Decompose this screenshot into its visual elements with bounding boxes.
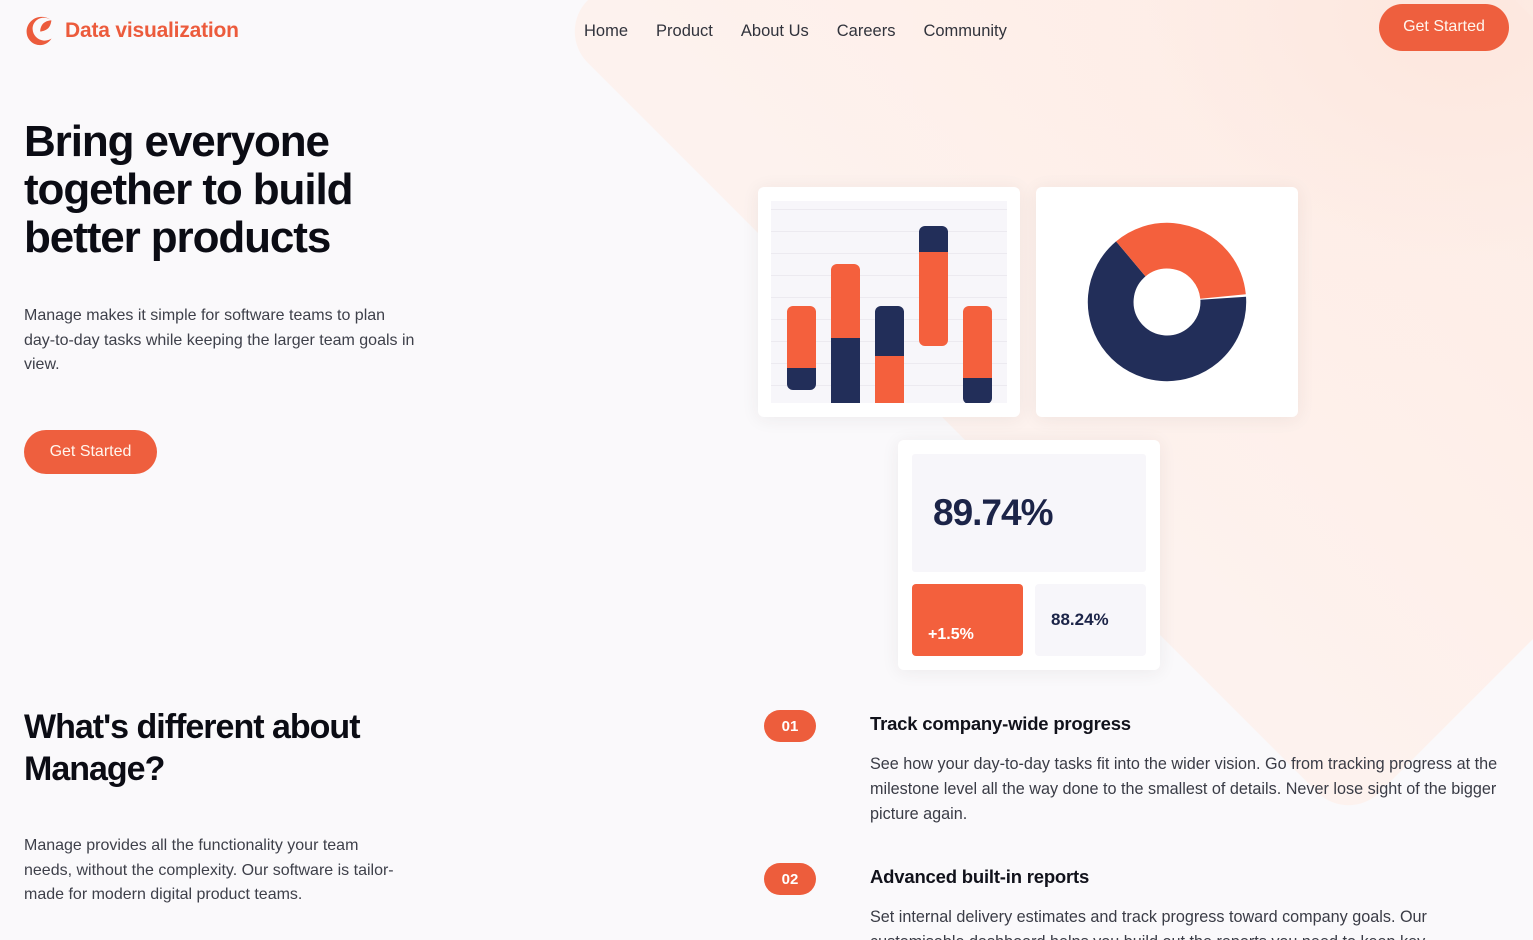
feature-text-02: Set internal delivery estimates and trac… xyxy=(870,905,1509,940)
crescent-swoosh-logo-icon xyxy=(24,16,54,46)
bar-1 xyxy=(787,306,816,390)
features-section: What's different about Manage? Manage pr… xyxy=(0,618,1533,940)
site-header: Data visualization Home Product About Us… xyxy=(0,0,1533,62)
gridline xyxy=(771,253,1007,254)
header-cta-wrapper: Get Started xyxy=(1379,4,1509,51)
bar-chart-plot-area xyxy=(771,201,1007,403)
header-get-started-button[interactable]: Get Started xyxy=(1379,4,1509,51)
hero-section: Bring everyone together to build better … xyxy=(0,62,1533,618)
nav-item-about-us[interactable]: About Us xyxy=(741,22,809,41)
bar-4-segment-orange xyxy=(919,252,948,346)
feature-heading-01: Track company-wide progress xyxy=(870,713,1509,735)
kpi-headline-value: 89.74% xyxy=(933,492,1053,534)
nav-item-home[interactable]: Home xyxy=(584,22,628,41)
nav-item-product[interactable]: Product xyxy=(656,22,713,41)
brand-name: Data visualization xyxy=(65,19,239,43)
gridline xyxy=(771,275,1007,276)
hero-get-started-button[interactable]: Get Started xyxy=(24,430,157,474)
bar-5-segment-orange xyxy=(963,306,992,378)
feature-heading-02: Advanced built-in reports xyxy=(870,866,1509,888)
features-subtitle: Manage provides all the functionality yo… xyxy=(24,834,404,908)
bar-2 xyxy=(831,264,860,403)
gridline xyxy=(771,297,1007,298)
feature-number-badge-02: 02 xyxy=(764,863,816,895)
hero-subtitle: Manage makes it simple for software team… xyxy=(24,304,419,378)
bar-chart-card xyxy=(758,187,1020,417)
donut-chart xyxy=(1036,187,1298,417)
feature-text-01: See how your day-to-day tasks fit into t… xyxy=(870,752,1509,827)
features-list: 01 Track company-wide progress See how y… xyxy=(764,706,1509,940)
bar-2-segment-orange xyxy=(831,264,860,338)
bar-3-segment-navy xyxy=(875,306,904,356)
main-nav: Home Product About Us Careers Community xyxy=(584,22,1007,41)
feature-body-01: Track company-wide progress See how your… xyxy=(870,710,1509,827)
bar-4-segment-navy xyxy=(919,226,948,252)
bar-5 xyxy=(963,306,992,403)
features-intro: What's different about Manage? Manage pr… xyxy=(24,706,764,940)
bar-3 xyxy=(875,306,904,403)
nav-item-community[interactable]: Community xyxy=(923,22,1006,41)
bar-1-segment-navy xyxy=(787,368,816,390)
bar-5-segment-navy xyxy=(963,378,992,403)
nav-item-careers[interactable]: Careers xyxy=(837,22,896,41)
feature-body-02: Advanced built-in reports Set internal d… xyxy=(870,863,1509,940)
brand[interactable]: Data visualization xyxy=(24,16,444,46)
gridline xyxy=(771,231,1007,232)
bar-4 xyxy=(919,226,948,346)
bar-1-segment-orange xyxy=(787,306,816,368)
donut-chart-card xyxy=(1036,187,1298,417)
bar-3-segment-orange xyxy=(875,356,904,403)
feature-number-badge-01: 01 xyxy=(764,710,816,742)
feature-item-01: 01 Track company-wide progress See how y… xyxy=(764,710,1509,827)
kpi-headline-box: 89.74% xyxy=(912,454,1146,572)
gridline xyxy=(771,209,1007,210)
bar-2-segment-navy xyxy=(831,338,860,403)
hero-title: Bring everyone together to build better … xyxy=(24,118,444,262)
features-title: What's different about Manage? xyxy=(24,706,464,790)
feature-item-02: 02 Advanced built-in reports Set interna… xyxy=(764,863,1509,940)
donut-chart-svg xyxy=(1079,214,1255,390)
hero-dashboard-visual: 89.74% +1.5% 88.24% xyxy=(494,118,1509,618)
hero-copy: Bring everyone together to build better … xyxy=(24,118,494,618)
